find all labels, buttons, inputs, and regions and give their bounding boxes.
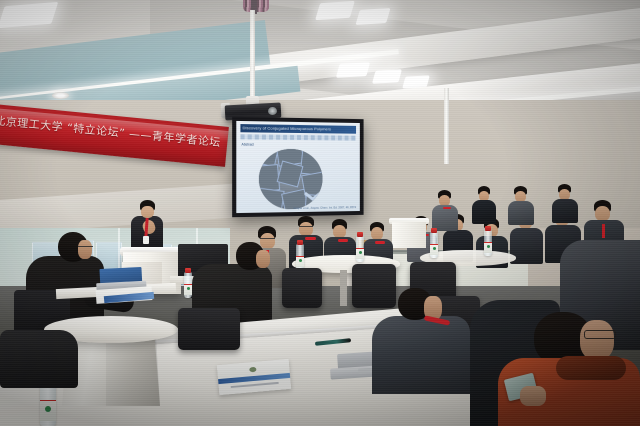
slide-footnote: Cooper et al., Angew. Chem. Int. Ed. 200… [293, 205, 356, 210]
name-badge [143, 236, 149, 244]
projection-screen-frame: Discovery of Conjugated Microporous Poly… [232, 117, 363, 217]
slide-title-bar: Discovery of Conjugated Microporous Poly… [240, 124, 356, 134]
ceiling-downlight [52, 92, 69, 99]
ceiling-panel-light [355, 8, 390, 25]
slide-diagram-circle [259, 149, 323, 210]
ceiling-support-pole [444, 88, 449, 164]
water-bottle [484, 230, 492, 256]
eyeglasses [78, 246, 93, 250]
ceiling-panel-light [336, 62, 370, 78]
projector-mount-pole [250, 10, 255, 100]
brochure-band [218, 373, 290, 384]
attendee-torso [372, 316, 470, 394]
slide-accent-bar [240, 134, 356, 140]
ceiling-panel-light [0, 2, 58, 28]
conference-brochure [217, 359, 291, 395]
projection-screen: Discovery of Conjugated Microporous Poly… [236, 121, 360, 213]
attendee-face [580, 320, 614, 360]
side-stand [392, 222, 426, 248]
water-bottle [296, 244, 304, 270]
slide-title: Discovery of Conjugated Microporous Poly… [240, 124, 356, 134]
brochure-text-line [231, 382, 279, 388]
water-bottle [430, 232, 438, 258]
conference-photo-scene: 北京理工大学 “特立论坛” ——青年学者论坛（化学化工、物理材 Discover… [0, 0, 640, 426]
jacket-collar [556, 356, 626, 380]
ceiling-panel-light [315, 1, 355, 20]
office-chair [352, 264, 396, 308]
attendee-face [256, 250, 270, 268]
brochure-logo [249, 367, 256, 373]
office-chair [282, 268, 322, 308]
ceiling-panel-light [372, 69, 402, 83]
network-cell [277, 160, 304, 187]
network-cell [259, 188, 285, 210]
slide-subtitle: Abstract [241, 142, 253, 146]
water-bottle [356, 236, 364, 262]
office-chair [178, 308, 240, 350]
table-leg [340, 270, 347, 306]
eyeglasses [584, 330, 616, 339]
attendee-hand [520, 386, 546, 406]
speaker-face [141, 206, 154, 218]
water-bottle [184, 272, 192, 298]
backpack [0, 330, 78, 388]
wall-upper-band [0, 183, 250, 234]
